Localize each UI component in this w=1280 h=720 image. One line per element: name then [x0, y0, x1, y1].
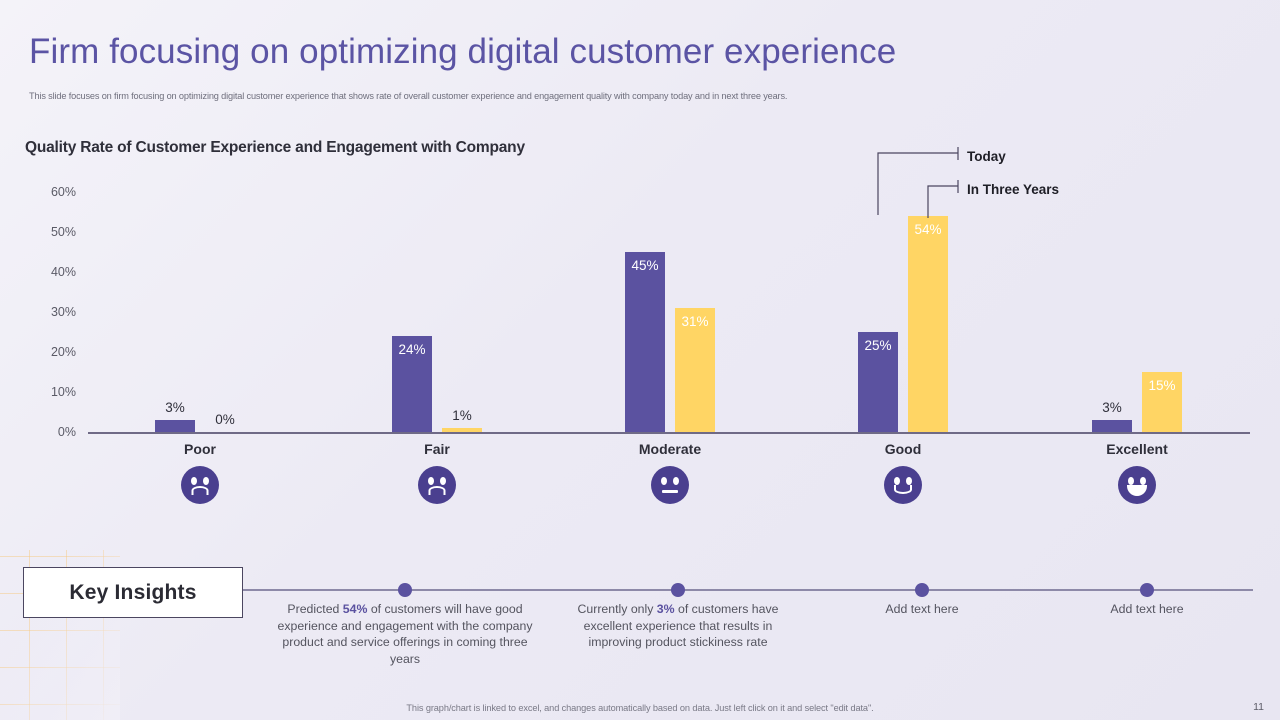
timeline-dot — [398, 583, 412, 597]
callout-label-today: Today — [967, 149, 1006, 164]
category-label-moderate: Moderate — [639, 441, 701, 457]
category-label-poor: Poor — [184, 441, 216, 457]
bar-value-label: 45% — [625, 258, 665, 273]
insight-highlight: 54% — [343, 602, 368, 616]
page-subtitle: This slide focuses on firm focusing on o… — [29, 91, 787, 101]
bar-good-today: 25% — [858, 332, 898, 432]
bar-value-label: 24% — [392, 342, 432, 357]
bar-value-label: 25% — [858, 338, 898, 353]
insight-text: Add text here — [822, 601, 1022, 618]
category-label-good: Good — [885, 441, 922, 457]
timeline-dot — [1140, 583, 1154, 597]
chart-y-axis: 0%10%20%30%40%50%60% — [0, 192, 84, 432]
callout-label-in-three-years: In Three Years — [967, 182, 1059, 197]
bar-poor-today: 3% — [155, 420, 195, 432]
y-axis-tick: 0% — [58, 425, 76, 439]
y-axis-tick: 30% — [51, 305, 76, 319]
insight-text: Add text here — [1047, 601, 1247, 618]
bar-value-label: 0% — [205, 412, 245, 427]
category-label-excellent: Excellent — [1106, 441, 1167, 457]
insight-text: Predicted 54% of customers will have goo… — [275, 601, 535, 667]
insight-text: Currently only 3% of customers have exce… — [568, 601, 788, 651]
smiling-face-icon — [884, 466, 922, 504]
frowning-face-icon — [418, 466, 456, 504]
neutral-face-icon — [651, 466, 689, 504]
footer-note: This graph/chart is linked to excel, and… — [0, 703, 1280, 713]
category-label-fair: Fair — [424, 441, 450, 457]
y-axis-tick: 50% — [51, 225, 76, 239]
bar-value-label: 3% — [1092, 400, 1132, 415]
bar-fair-future: 1% — [442, 428, 482, 432]
bar-chart-plot-area: 3%0%24%1%45%31%25%54%3%15% — [88, 192, 1250, 432]
bar-value-label: 15% — [1142, 378, 1182, 393]
page-number: 11 — [1253, 701, 1264, 713]
timeline-dot — [671, 583, 685, 597]
bar-value-label: 31% — [675, 314, 715, 329]
bar-value-label: 54% — [908, 222, 948, 237]
frowning-face-icon — [181, 466, 219, 504]
insight-highlight: 3% — [657, 602, 675, 616]
y-axis-tick: 40% — [51, 265, 76, 279]
timeline-dot — [915, 583, 929, 597]
key-insights-timeline — [243, 589, 1253, 591]
page-title: Firm focusing on optimizing digital cust… — [29, 32, 896, 72]
key-insights-box: Key Insights — [23, 567, 243, 618]
chart-heading: Quality Rate of Customer Experience and … — [25, 139, 525, 157]
y-axis-tick: 10% — [51, 385, 76, 399]
bar-fair-today: 24% — [392, 336, 432, 432]
y-axis-tick: 60% — [51, 185, 76, 199]
y-axis-tick: 20% — [51, 345, 76, 359]
chart-x-axis-line — [88, 432, 1250, 434]
bar-good-future: 54% — [908, 216, 948, 432]
grinning-face-icon — [1118, 466, 1156, 504]
key-insights-label: Key Insights — [69, 581, 196, 605]
bar-excellent-today: 3% — [1092, 420, 1132, 432]
bar-moderate-today: 45% — [625, 252, 665, 432]
bar-value-label: 1% — [442, 408, 482, 423]
bar-moderate-future: 31% — [675, 308, 715, 432]
bar-value-label: 3% — [155, 400, 195, 415]
bar-excellent-future: 15% — [1142, 372, 1182, 432]
